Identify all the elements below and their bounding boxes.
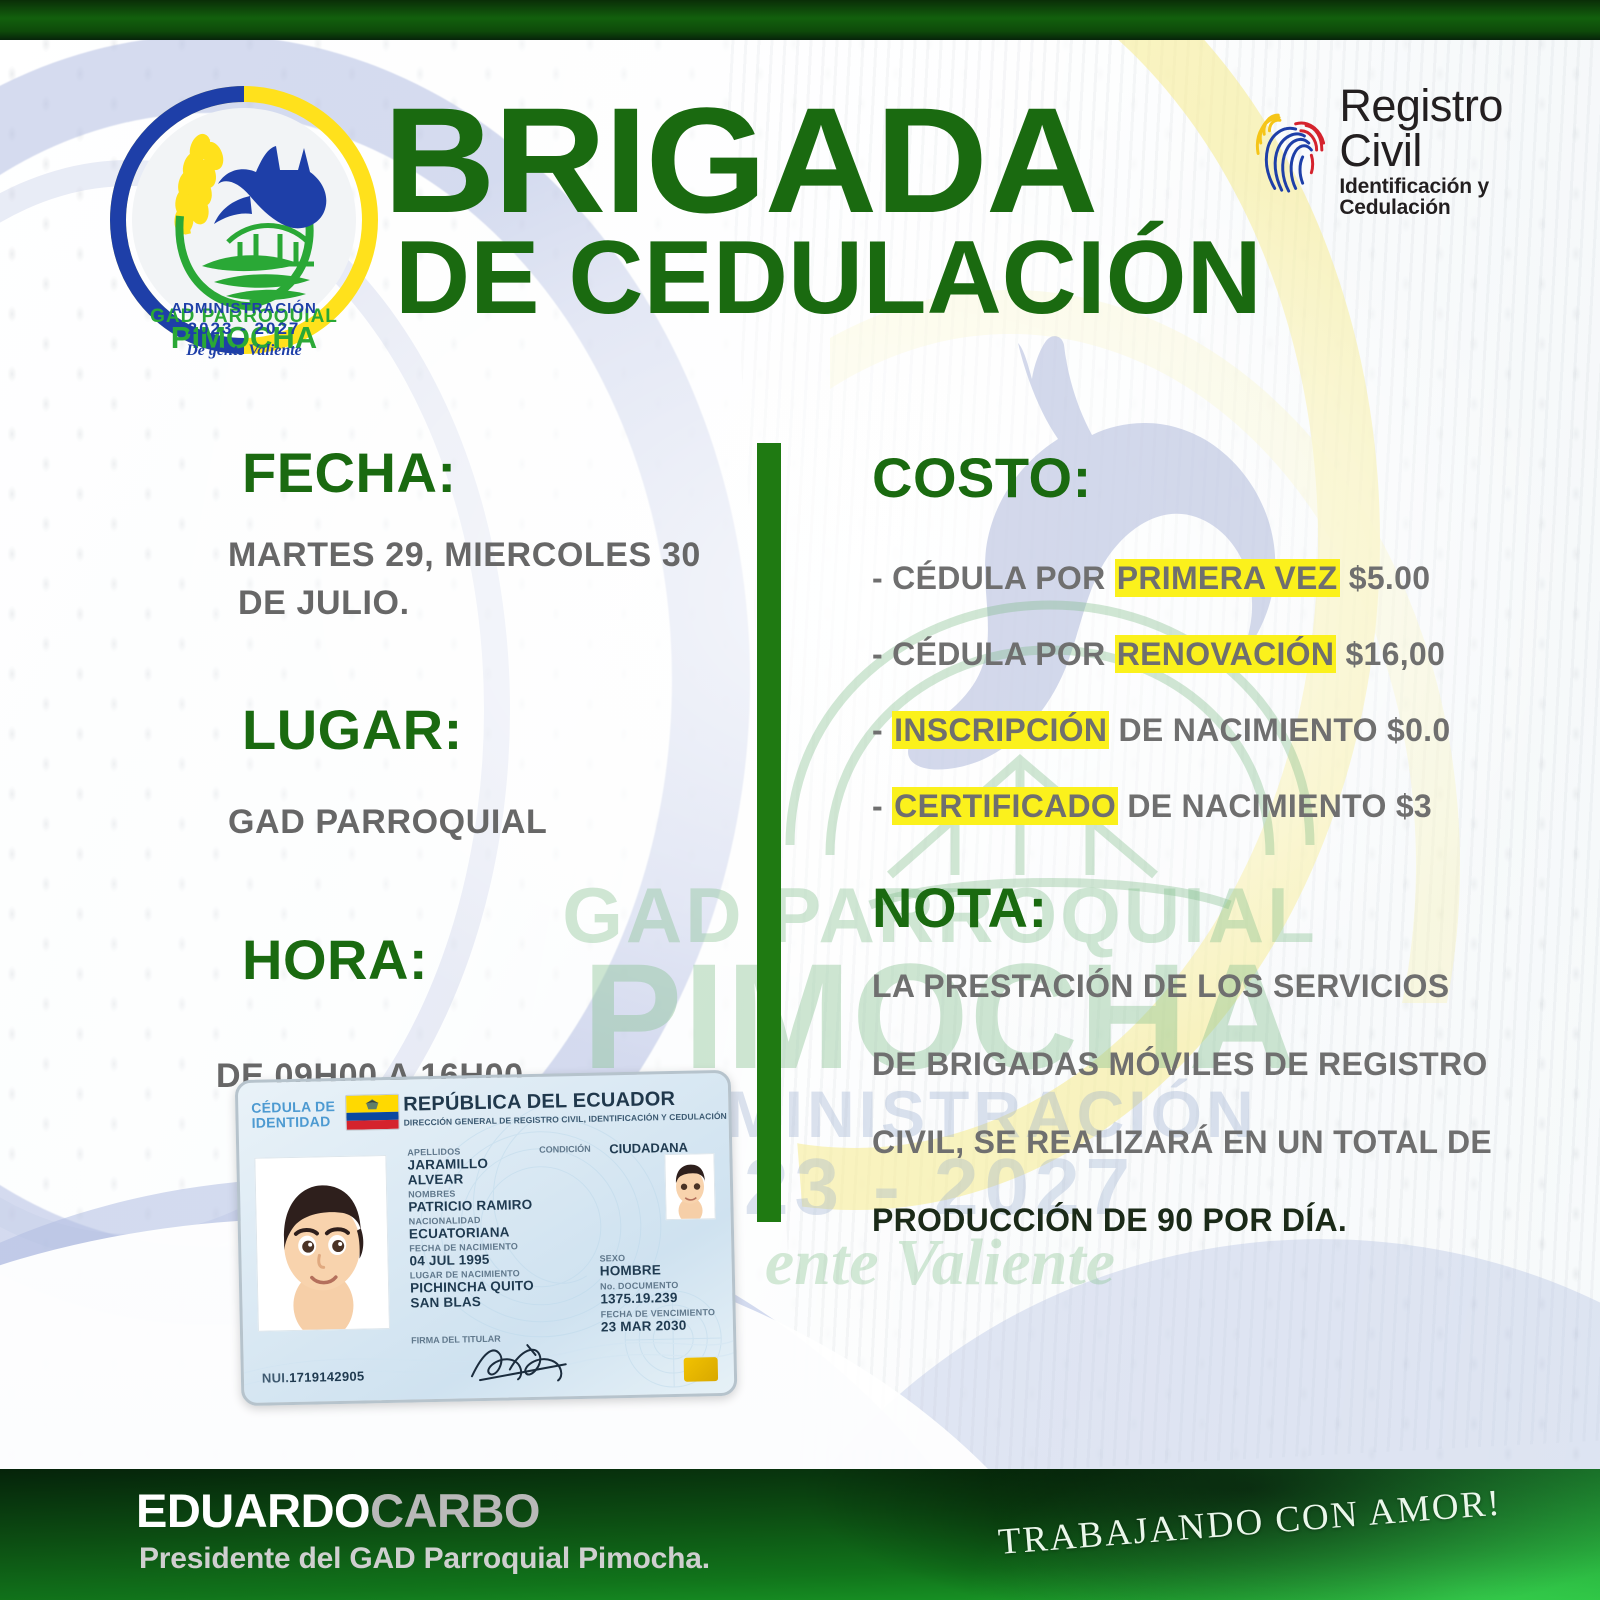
card-nombres-value: PATRICIO RAMIRO: [408, 1195, 608, 1214]
card-nacionalidad-value: ECUATORIANA: [409, 1222, 609, 1241]
costo-pre: CÉDULA POR: [892, 636, 1115, 672]
costo-post: DE NACIMIENTO $0.0: [1109, 712, 1450, 748]
left-info-column: FECHA: MARTES 29, MIERCOLES 30 DE JULIO.…: [228, 445, 748, 1100]
costo-item: - CERTIFICADO DE NACIMIENTO $3: [872, 790, 1532, 822]
card-vencimiento-value: 23 MAR 2030: [601, 1317, 738, 1335]
logo-admin-label: ADMINISTRACIÓN: [110, 300, 378, 317]
costo-label: COSTO:: [872, 450, 1532, 506]
card-photo-main: [254, 1155, 390, 1332]
fecha-value-line-2: DE JULIO.: [238, 579, 748, 627]
title-line-brigada: BRIGADA: [383, 88, 1297, 232]
costo-highlight: CERTIFICADO: [892, 787, 1118, 825]
costo-pre: CÉDULA POR: [892, 560, 1115, 596]
card-field-column-right: SEXO HOMBRE No. DOCUMENTO 1375.19.239 FE…: [599, 1251, 737, 1335]
footer-name-last: CARBO: [370, 1484, 540, 1537]
fecha-label: FECHA:: [242, 445, 748, 501]
card-nui-value: 1719142905: [289, 1369, 365, 1386]
costo-post: $16,00: [1336, 636, 1445, 672]
card-fecha-nac-value: 04 JUL 1995: [409, 1249, 609, 1268]
costo-dash: -: [872, 788, 892, 824]
lugar-value: GAD PARROQUIAL: [228, 798, 748, 846]
costo-item: - INSCRIPCIÓN DE NACIMIENTO $0.0: [872, 714, 1532, 746]
nota-line: DE BRIGADAS MÓVILES DE REGISTRO: [872, 1048, 1532, 1080]
costo-highlight: PRIMERA VEZ: [1115, 559, 1340, 597]
registro-civil-name: Registro Civil: [1339, 83, 1572, 173]
costo-highlight: RENOVACIÓN: [1115, 635, 1337, 673]
card-chip-icon: [684, 1357, 718, 1382]
lugar-label: LUGAR:: [242, 702, 748, 758]
hora-label: HORA:: [242, 932, 748, 988]
card-photo-ghost: [664, 1153, 715, 1220]
costo-highlight: INSCRIPCIÓN: [892, 711, 1109, 749]
costo-dash: -: [872, 712, 892, 748]
top-green-bar: [0, 0, 1600, 40]
card-nui: NUI.1719142905: [262, 1369, 365, 1386]
costo-item: - CÉDULA POR RENOVACIÓN $16,00: [872, 638, 1532, 670]
footer-name: EDUARDOCARBO: [136, 1487, 540, 1534]
card-documento-value: 1375.19.239: [600, 1289, 737, 1307]
costo-dash: -: [872, 636, 892, 672]
logo-caption-block: ADMINISTRACIÓN 2023 - 2027 De gente Vali…: [110, 300, 378, 360]
poster-title: BRIGADA DE CEDULACIÓN: [383, 88, 1262, 330]
card-cedula-de-identidad-label: CÉDULA DE IDENTIDAD: [251, 1099, 335, 1130]
title-line-cedulacion: DE CEDULACIÓN: [395, 226, 1262, 330]
logo-slogan-label: De gente Valiente: [110, 342, 378, 360]
ecuador-coat-of-arms-icon: [361, 1098, 383, 1112]
poster-root: GAD PARROQUIAL PIMOCHA ADMINISTRACIÓN 23…: [0, 0, 1600, 1600]
registro-civil-tagline: Identificación y Cedulación: [1339, 176, 1572, 218]
logo-period-label: 2023 - 2027: [110, 319, 378, 339]
ecuador-flag-icon: [345, 1094, 400, 1131]
nota-line: PRODUCCIÓN DE 90 POR DÍA.: [872, 1204, 1532, 1236]
costo-post: $5.00: [1340, 560, 1431, 596]
footer-name-first: EDUARDO: [136, 1484, 370, 1537]
nota-line: LA PRESTACIÓN DE LOS SERVICIOS: [872, 970, 1532, 1002]
card-nui-label: NUI.: [262, 1370, 290, 1386]
nota-label: NOTA:: [872, 880, 1532, 936]
costo-item: - CÉDULA POR PRIMERA VEZ $5.00: [872, 562, 1532, 594]
cedula-identidad-card: CÉDULA DE IDENTIDAD REPÚBLICA DEL ECUADO…: [235, 1070, 732, 1400]
costo-post: DE NACIMIENTO $3: [1118, 788, 1432, 824]
costo-dash: -: [872, 560, 892, 596]
avatar-portrait-icon: [255, 1156, 389, 1331]
registro-civil-logo: Registro Civil Identificación y Cedulaci…: [1252, 96, 1572, 204]
fingerprint-ecuador-icon: [1252, 98, 1325, 202]
footer-role: Presidente del GAD Parroquial Pimocha.: [139, 1542, 710, 1576]
vertical-divider: [757, 443, 781, 1222]
nota-line: CIVIL, SE REALIZARÁ EN UN TOTAL DE: [872, 1126, 1532, 1158]
fecha-value-line-1: MARTES 29, MIERCOLES 30: [228, 531, 748, 579]
card-sexo-value: HOMBRE: [600, 1261, 738, 1279]
card-field-column-left: APELLIDOS JARAMILLO ALVEAR NOMBRES PATRI…: [407, 1143, 610, 1310]
avatar-ghost-icon: [665, 1154, 714, 1219]
signature-icon: [465, 1338, 576, 1388]
right-info-column: COSTO: - CÉDULA POR PRIMERA VEZ $5.00 - …: [872, 450, 1532, 1236]
card-apellidos-value-2: ALVEAR: [408, 1168, 608, 1187]
costo-list: - CÉDULA POR PRIMERA VEZ $5.00 - CÉDULA …: [872, 562, 1532, 822]
